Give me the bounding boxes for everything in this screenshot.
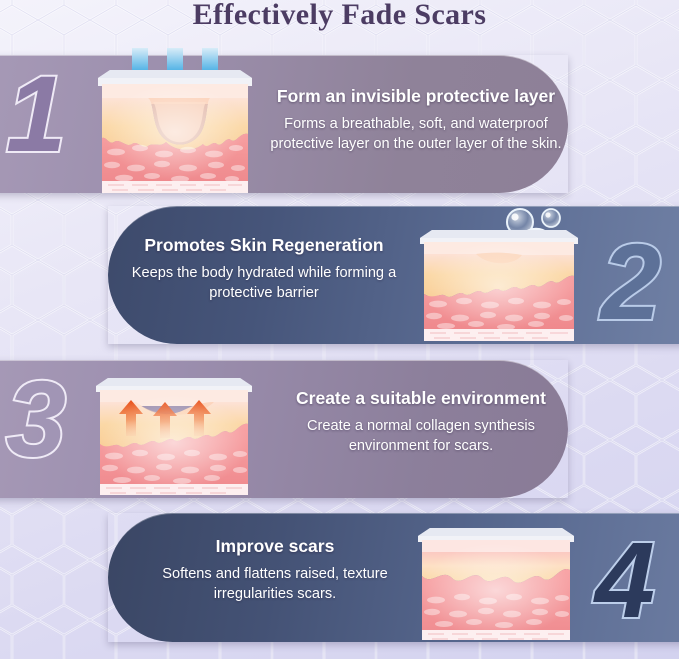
skin-diagram-depressed-scar xyxy=(90,48,260,196)
step-text-1: Form an invisible protective layer Forms… xyxy=(258,86,574,155)
skin-diagram-smoothed-skin xyxy=(410,512,582,640)
page-title: Effectively Fade Scars xyxy=(0,0,679,32)
step-number-4: 4 xyxy=(595,526,655,634)
step-heading-2: Promotes Skin Regeneration xyxy=(118,235,410,257)
step-heading-1: Form an invisible protective layer xyxy=(258,86,574,108)
step-body-4: Softens and flattens raised, texture irr… xyxy=(130,564,420,605)
skin-diagram-collagen-arrows xyxy=(88,362,260,496)
step-text-4: Improve scars Softens and flattens raise… xyxy=(130,536,420,605)
infographic-stage: Effectively Fade Scars 1 xyxy=(0,0,679,659)
step-number-1: 1 xyxy=(6,60,66,168)
step-body-1: Forms a breathable, soft, and waterproof… xyxy=(258,114,574,155)
step-number-3: 3 xyxy=(6,365,66,473)
step-heading-3: Create a suitable environment xyxy=(266,388,576,410)
step-body-2: Keeps the body hydrated while forming a … xyxy=(118,263,410,304)
step-text-2: Promotes Skin Regeneration Keeps the bod… xyxy=(118,235,410,304)
step-body-3: Create a normal collagen synthesis envir… xyxy=(266,416,576,457)
step-heading-4: Improve scars xyxy=(130,536,420,558)
step-text-3: Create a suitable environment Create a n… xyxy=(266,388,576,457)
skin-diagram-hydration-bubbles xyxy=(410,206,588,342)
step-number-2: 2 xyxy=(601,228,661,336)
